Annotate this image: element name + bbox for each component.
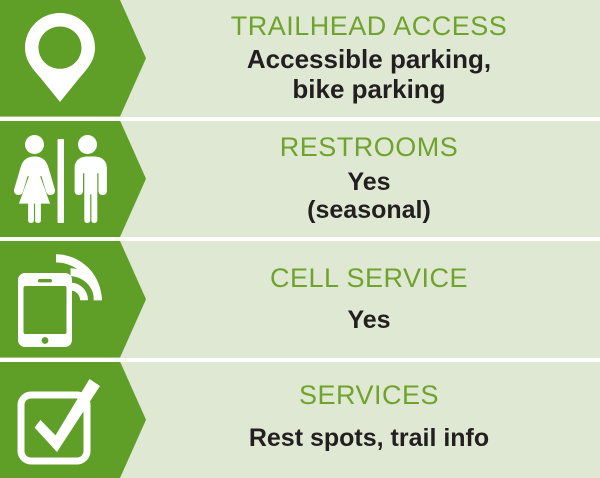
checkbox-check-icon [0, 362, 120, 478]
amenities-infographic: TRAILHEAD ACCESS Accessible parking, bik… [0, 0, 600, 478]
amenity-row-cell-service: CELL SERVICE Yes [0, 241, 600, 358]
row-value: Accessible parking, bike parking [247, 45, 491, 104]
row-value-line: Yes [307, 168, 431, 197]
row-value: Yes [347, 306, 390, 335]
map-pin-icon [0, 0, 120, 117]
chevron-block-services [0, 362, 146, 478]
row-value-line: Yes [347, 306, 390, 335]
amenity-row-trailhead-access: TRAILHEAD ACCESS Accessible parking, bik… [0, 0, 600, 117]
row-value-line: Accessible parking, [247, 45, 491, 75]
row-heading: TRAILHEAD ACCESS [231, 12, 508, 41]
row-text-restrooms: RESTROOMS Yes (seasonal) [146, 121, 600, 238]
row-heading: CELL SERVICE [270, 264, 468, 293]
cell-phone-signal-icon [0, 241, 120, 358]
amenity-row-services: SERVICES Rest spots, trail info [0, 362, 600, 478]
amenity-row-restrooms: RESTROOMS Yes (seasonal) [0, 121, 600, 238]
row-heading: SERVICES [299, 381, 439, 410]
row-text-services: SERVICES Rest spots, trail info [146, 362, 600, 478]
row-value-line: Rest spots, trail info [249, 424, 489, 453]
chevron-block-restrooms [0, 121, 146, 238]
row-value-line: bike parking [247, 75, 491, 105]
row-heading: RESTROOMS [280, 133, 459, 162]
row-value: Rest spots, trail info [249, 424, 489, 453]
row-value: Yes (seasonal) [307, 168, 431, 225]
row-text-trailhead-access: TRAILHEAD ACCESS Accessible parking, bik… [146, 0, 600, 117]
chevron-block-trailhead-access [0, 0, 146, 117]
row-text-cell-service: CELL SERVICE Yes [146, 241, 600, 358]
restrooms-icon [0, 121, 120, 238]
chevron-block-cell-service [0, 241, 146, 358]
row-value-line: (seasonal) [307, 196, 431, 225]
